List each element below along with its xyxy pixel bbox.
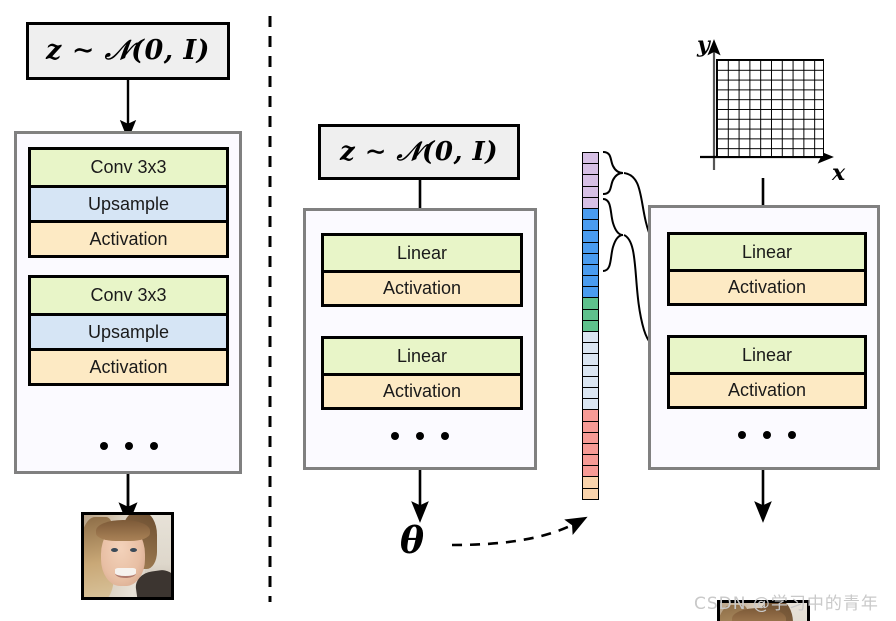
middle-latent-box: z ∼ 𝒩(0, I): [318, 124, 520, 180]
dot: [416, 432, 424, 440]
y-axis-label: y: [697, 32, 710, 58]
dot: [125, 442, 133, 450]
right-linear-block-1-activation: Activation: [670, 269, 864, 303]
left-latent-box: z ∼ 𝒩(0, I): [26, 22, 230, 80]
middle-linear-block-2-linear: Linear: [324, 339, 520, 373]
dot: [738, 431, 746, 439]
left-output-face-image: [81, 512, 174, 600]
right-linear-block-2-activation: Activation: [670, 372, 864, 406]
x-axis-label: x: [832, 160, 845, 186]
conv-block-1-layer-conv: Conv 3x3: [31, 150, 226, 185]
csdn-watermark: CSDN @学习中的青年: [694, 589, 879, 614]
coordinate-grid-plot: [716, 59, 824, 157]
conv-block-1-layer-upsample: Upsample: [31, 185, 226, 220]
theta-symbol: θ: [400, 520, 424, 562]
conv-block-2-layer-activation: Activation: [31, 348, 226, 383]
dot: [788, 431, 796, 439]
conv-block-1-layer-activation: Activation: [31, 220, 226, 255]
dot: [763, 431, 771, 439]
right-inr-container: Linear Activation Linear Activation: [648, 205, 880, 470]
right-ellipsis: [719, 428, 814, 442]
middle-linear-block-1-linear: Linear: [324, 236, 520, 270]
dot: [100, 442, 108, 450]
right-linear-block-1: Linear Activation: [667, 232, 867, 306]
theta-to-vector-arrow: [452, 522, 578, 545]
conv-block-1: Conv 3x3 Upsample Activation: [28, 147, 229, 258]
middle-linear-block-1: Linear Activation: [321, 233, 523, 307]
right-linear-block-2: Linear Activation: [667, 335, 867, 409]
parameter-vector-strip: [582, 152, 599, 530]
dot: [441, 432, 449, 440]
diagram-canvas: z ∼ 𝒩(0, I) Conv 3x3 Upsample Activation…: [0, 0, 896, 621]
dot: [391, 432, 399, 440]
conv-block-2-layer-upsample: Upsample: [31, 313, 226, 348]
middle-linear-block-2-activation: Activation: [324, 373, 520, 407]
right-linear-block-2-linear: Linear: [670, 338, 864, 372]
conv-block-2-layer-conv: Conv 3x3: [31, 278, 226, 313]
middle-hypernetwork-container: Linear Activation Linear Activation: [303, 208, 537, 470]
middle-latent-formula: z ∼ 𝒩(0, I): [340, 137, 498, 168]
right-linear-block-1-linear: Linear: [670, 235, 864, 269]
middle-linear-block-1-activation: Activation: [324, 270, 520, 304]
dot: [150, 442, 158, 450]
middle-linear-block-2: Linear Activation: [321, 336, 523, 410]
left-latent-formula: z ∼ 𝒩(0, I): [46, 35, 210, 67]
left-ellipsis: [81, 439, 176, 453]
vector-cell: [582, 488, 599, 500]
conv-block-2: Conv 3x3 Upsample Activation: [28, 275, 229, 386]
left-generator-container: Conv 3x3 Upsample Activation Conv 3x3 Up…: [14, 131, 242, 474]
middle-ellipsis: [372, 429, 467, 443]
brace-2: [603, 199, 623, 271]
brace-1: [603, 152, 623, 194]
